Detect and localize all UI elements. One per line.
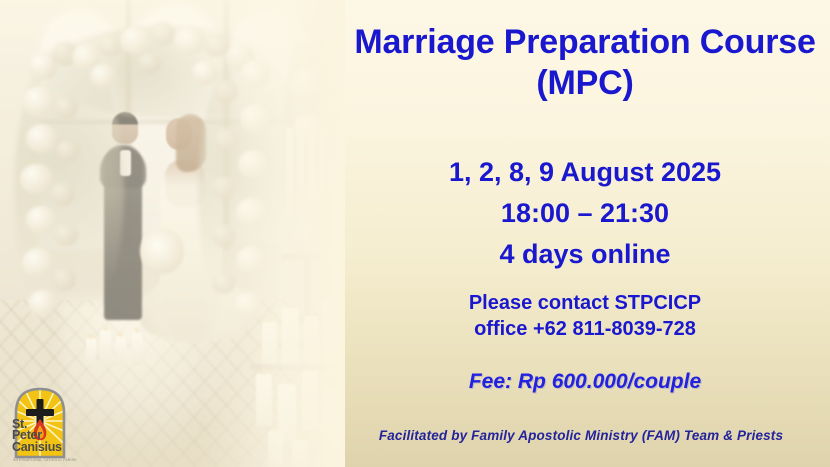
logo-wordmark: St. Peter Canisius [12,419,62,454]
contact-phone[interactable]: office +62 811-8039-728 [340,316,830,342]
parish-logo: St. Peter Canisius INTERNATIONAL CATHOLI… [10,383,82,463]
schedule-duration: 4 days online [340,234,830,275]
poster-text-column: Marriage Preparation Course (MPC) 1, 2, … [340,0,830,467]
fee-text: Fee: Rp 600.000/couple [340,370,830,394]
contact-line-1: Please contact STPCICP [340,290,830,316]
poster-canvas: St. Peter Canisius INTERNATIONAL CATHOLI… [0,0,830,467]
logo-subtitle: INTERNATIONAL CATHOLIC PARISH [13,458,77,462]
schedule-dates: 1, 2, 8, 9 August 2025 [340,152,830,193]
contact-block: Please contact STPCICP office +62 811-80… [340,290,830,342]
logo-name-line-3: Canisius [12,442,62,454]
title-line-2: (MPC) [340,63,830,104]
title-line-1: Marriage Preparation Course [340,22,830,63]
schedule-time: 18:00 – 21:30 [340,193,830,234]
schedule-block: 1, 2, 8, 9 August 2025 18:00 – 21:30 4 d… [340,152,830,275]
poster-title: Marriage Preparation Course (MPC) [340,22,830,104]
facilitator-credit: Facilitated by Family Apostolic Ministry… [332,428,830,443]
